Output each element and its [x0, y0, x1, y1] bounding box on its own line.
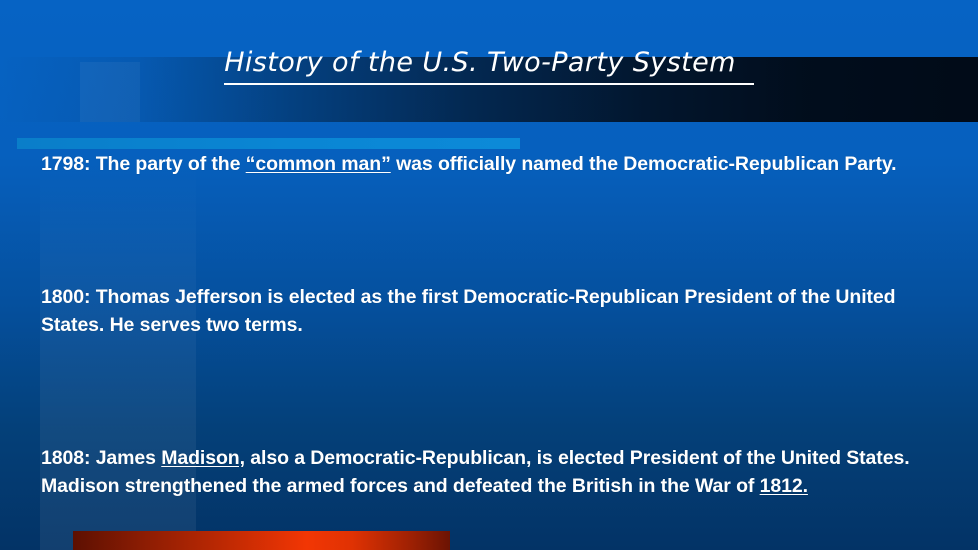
slide-title-container: History of the U.S. Two-Party System: [0, 46, 978, 85]
body-paragraph-1808: 1808: James Madison, also a Democratic-R…: [41, 444, 931, 500]
underlined-text: 1812.: [760, 475, 808, 497]
underlined-text: “common man”: [246, 153, 391, 175]
text-run: 1800: Thomas Jefferson is elected as the…: [41, 286, 895, 336]
presentation-slide: History of the U.S. Two-Party System 179…: [0, 0, 978, 550]
slide-title: History of the U.S. Two-Party System: [224, 46, 754, 85]
text-run: was officially named the Democratic-Repu…: [391, 153, 897, 175]
underlined-text: Madison,: [161, 447, 245, 469]
text-run: 1808: James: [41, 447, 161, 469]
text-run: 1798: The party of the: [41, 153, 246, 175]
body-paragraph-1798: 1798: The party of the “common man” was …: [41, 150, 931, 178]
body-paragraph-1800: 1800: Thomas Jefferson is elected as the…: [41, 283, 931, 339]
slide-body: 1798: The party of the “common man” was …: [41, 150, 931, 500]
red-accent-bar-decoration: [73, 531, 450, 550]
cyan-accent-bar-decoration: [17, 138, 520, 149]
